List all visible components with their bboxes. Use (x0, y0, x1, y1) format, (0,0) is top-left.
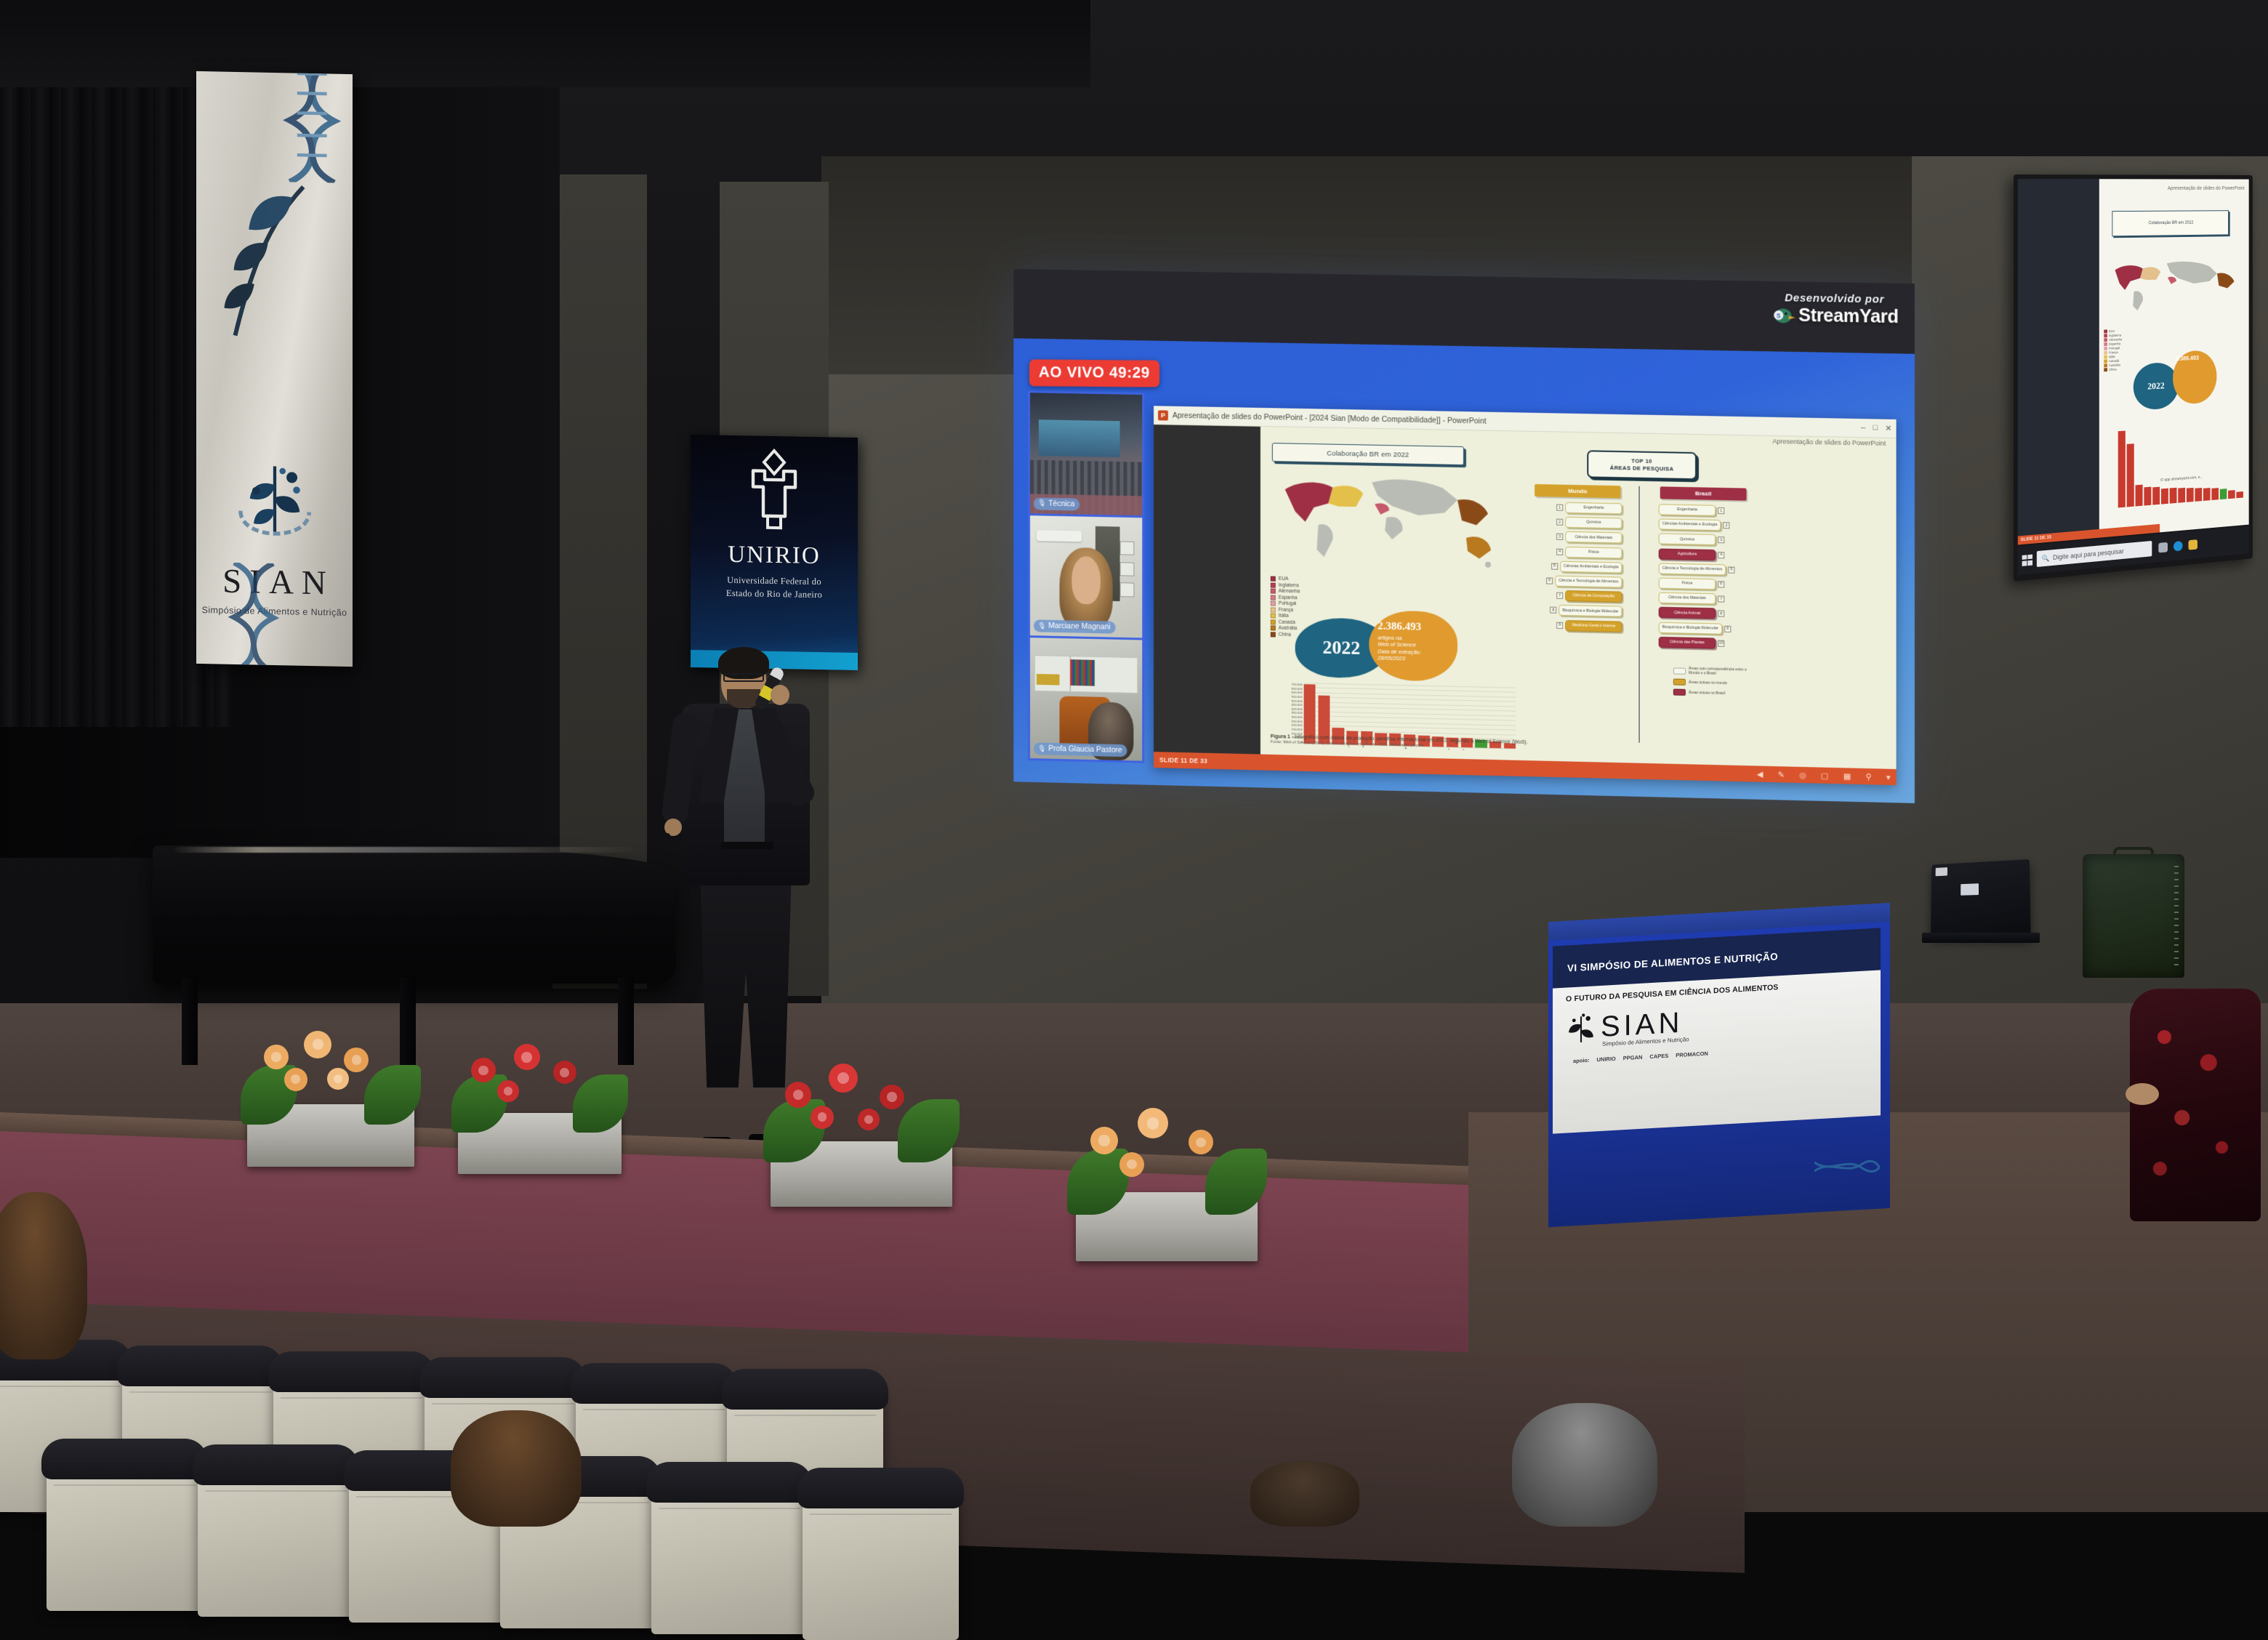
table-banner-white-band: O FUTURO DA PESQUISA EM CIÊNCIA DOS ALIM… (1553, 970, 1881, 1133)
legend-label: Canadá (2109, 358, 2119, 362)
x-tick-label: Brasil (1475, 747, 1487, 760)
flowchart-legend-swatch (1673, 667, 1686, 674)
legend-label: Itália (1279, 614, 1289, 619)
flowchart-item-rank: 3 (1556, 534, 1563, 540)
search-placeholder: Digite aqui para pesquisar (2053, 547, 2124, 561)
task-view-icon[interactable] (2158, 542, 2168, 553)
audience-member (451, 1410, 582, 1527)
monitor-slide-counter: SLIDE 11 DE 33 (2021, 536, 2051, 543)
y-tick-label: 300.000 (1292, 715, 1303, 719)
flowchart-item: Engenharia1 (1659, 504, 1725, 516)
pen-tools-icon[interactable]: ✎ (1778, 770, 1785, 779)
flowchart-title: TOP 10 ÁREAS DE PESQUISA (1587, 450, 1697, 480)
auditorium-seat[interactable] (803, 1473, 959, 1640)
streamyard-frame: Desenvolvido por S StreamYard AO VIVO 49… (1013, 269, 1915, 803)
legend-swatch (1271, 576, 1276, 582)
legend-label: China (1279, 632, 1291, 637)
flowchart-item: Ciências Ambientais e Ecologia2 (1659, 519, 1730, 531)
flowchart-item-label: Ciência das Plantas (1659, 637, 1716, 649)
flowchart-item-label: Bioquímica e Biologia Molecular (1659, 622, 1722, 634)
unirio-banner-subtitle: Universidade Federal do Estado do Rio de… (726, 574, 822, 602)
participant-name-chip: 🎙 Marciane Magnani (1034, 620, 1115, 634)
svg-text:S: S (1777, 311, 1781, 318)
flowchart-item-label: Bioquímica e Biologia Molecular (1559, 605, 1622, 617)
monitor-bar-chart (2118, 422, 2243, 508)
powerpoint-black-sidebar (1154, 425, 1260, 770)
flowchart-legend: Áreas com correspondência entre o Mundo … (1673, 666, 1754, 697)
legend-label: China (2109, 367, 2117, 371)
flowchart-item: 6Ciência e Tecnologia de Alimentos (1546, 575, 1622, 587)
flowchart-brazil-items: Engenharia1Ciências Ambientais e Ecologi… (1659, 504, 1750, 649)
flowchart-item: Ciência dos Materiais7 (1659, 592, 1725, 605)
monitor-panel: Apresentação de slides do PowerPoint Col… (2018, 179, 2249, 544)
participant-tile[interactable]: 🎙 Marciane Magnani (1030, 515, 1142, 638)
participant-rail: 🎙 Técnica 🎙 Marciane Magnani (1028, 390, 1144, 763)
monitor-year-blob: 2022 (2134, 362, 2179, 410)
streamyard-duck-icon: S (1771, 306, 1795, 326)
participant-tile[interactable]: 🎙 Técnica (1030, 393, 1142, 515)
flowchart-item-rank: 5 (1728, 566, 1734, 573)
table-banner-headline: VI SIMPÓSIO DE ALIMENTOS E NUTRIÇÃO (1567, 951, 1778, 973)
legend-label: EUA (1279, 576, 1288, 582)
red-gerbera-planter (771, 1058, 952, 1207)
flowchart-item-rank: 10 (1718, 640, 1724, 646)
legend-swatch (2104, 359, 2107, 363)
flowchart-item-label: Engenharia (1659, 504, 1716, 516)
flowchart-item-label: Química (1659, 534, 1716, 546)
chart-bar (2228, 490, 2235, 499)
monitor-slide-area: Apresentação de slides do PowerPoint Col… (2099, 179, 2249, 537)
flowchart-world-items: 1Engenharia2Química3Ciência dos Materiai… (1532, 502, 1622, 632)
auditorium-seat[interactable] (651, 1467, 808, 1634)
legend-entry: Alemanha (2104, 337, 2122, 342)
flowchart-legend-swatch (1673, 689, 1686, 696)
chart-bar (2118, 431, 2126, 508)
flowchart-item-rank: 3 (1718, 536, 1724, 543)
legend-swatch (1271, 625, 1276, 630)
article-count: 2.386.493 (1378, 621, 1450, 635)
flowchart-item-rank: 8 (1550, 607, 1556, 614)
statistic-blob: 2.386.493 artigos na Web of Science Data… (1369, 610, 1457, 682)
x-tick-label: Irã (1504, 748, 1516, 760)
legend-label: Portugal (1279, 601, 1296, 606)
search-icon: 🔍 (2042, 554, 2050, 563)
flowchart-item-label: Ciência dos Materiais (1565, 531, 1622, 544)
y-tick-label: 650.000 (1292, 686, 1303, 690)
legend-swatch (1271, 607, 1276, 612)
flowchart-item-label: Engenharia (1565, 502, 1622, 515)
legend-entry: Itália (1271, 613, 1300, 619)
all-slides-icon[interactable]: ▦ (1843, 771, 1851, 781)
legend-label: França (2109, 350, 2118, 354)
flowchart-legend-swatch (1673, 678, 1686, 685)
legend-swatch (2104, 342, 2107, 346)
flowchart-item-label: Ciência da Computação (1565, 590, 1622, 603)
monitor-country-legend: EUAInglaterraAlemanhaEspanhaPortugalFran… (2104, 329, 2122, 371)
streamyard-developed-by-label: Desenvolvido por (1771, 292, 1899, 306)
legend-entry: Inglaterra (1271, 582, 1300, 588)
asset-tag-sticker (1936, 867, 1947, 876)
laser-pointer-icon[interactable]: ◎ (1799, 770, 1806, 779)
sponsor-logo: CAPES (1649, 1053, 1668, 1060)
y-tick-label: 250.000 (1292, 719, 1303, 723)
auditorium-seat[interactable] (198, 1450, 354, 1617)
flowchart-item: Química3 (1659, 534, 1725, 546)
flowchart-item: Ciência e Tecnologia de Alimentos5 (1659, 563, 1735, 575)
presenter-laptop[interactable] (1919, 861, 2043, 956)
legend-label: Alemanha (1279, 589, 1300, 595)
y-tick-label: 550.000 (1292, 695, 1303, 699)
flowchart-column-brazil: Brasil (1660, 486, 1747, 500)
flowchart-item-rank: 6 (1718, 581, 1724, 587)
grand-piano (153, 825, 705, 1065)
legend-swatch (2104, 368, 2107, 371)
powerpoint-window-title: Apresentação de slides do PowerPoint - [… (1173, 411, 1487, 425)
flowchart-item-label: Física (1565, 546, 1622, 558)
chart-bar (2161, 488, 2168, 504)
legend-swatch (1271, 589, 1276, 594)
flowchart-item-label: Ciências Ambientais e Ecologia (1560, 561, 1622, 574)
streamyard-branding: Desenvolvido por S StreamYard (1771, 292, 1899, 328)
flowchart-item: Agricultura4 (1659, 548, 1725, 560)
legend-label: EUA (2109, 329, 2115, 333)
mic-icon: 🎙 (1038, 499, 1046, 507)
flowchart-legend-label: Áreas únicas no mundo (1689, 680, 1727, 685)
unirio-banner-word: UNIRIO (728, 542, 820, 570)
y-tick-label: 500.000 (1292, 699, 1303, 702)
legend-entry: Canadá (1271, 619, 1300, 625)
legend-entry: França (1271, 607, 1300, 613)
legend-swatch (2104, 347, 2107, 350)
flowchart-item-rank: 7 (1718, 596, 1724, 603)
legend-swatch (2104, 355, 2107, 358)
flowchart-item: Ciência Animal8 (1659, 607, 1725, 619)
table-banner-sian-word: SIAN (1601, 1009, 1683, 1041)
flowchart-item-label: Ciência e Tecnologia de Alimentos (1555, 576, 1622, 588)
slide-canvas: Apresentação de slides do PowerPoint Col… (1260, 427, 1897, 760)
flowchart-item: 5Ciências Ambientais e Ecologia (1551, 560, 1622, 573)
legend-entry: Espanha (1271, 595, 1300, 600)
sian-plant-crest-icon (228, 450, 322, 560)
monitor-slide-header: Apresentação de slides do PowerPoint (2106, 186, 2245, 191)
head-table-with-banner: VI SIMPÓSIO DE ALIMENTOS E NUTRIÇÃO O FU… (1548, 912, 1890, 1218)
audience-right-side (2064, 945, 2268, 1294)
legend-entry: China (1271, 632, 1300, 638)
monitor-collaboration-box: Colaboração BR em 2022 (2112, 211, 2229, 236)
chart-bar (2195, 488, 2202, 502)
close-icon[interactable]: ✕ (1885, 424, 1891, 433)
legend-entry: China (2104, 367, 2122, 371)
mic-icon: 🎙 (1038, 622, 1046, 630)
flowchart-item-rank: 2 (1723, 522, 1729, 528)
flowchart-legend-label: Áreas únicas no Brasil (1689, 690, 1725, 695)
legend-label: Espanha (2109, 342, 2120, 346)
legend-swatch (1271, 632, 1276, 637)
previous-slide-icon[interactable]: ◀ (1757, 769, 1764, 779)
flowchart-item-rank: 7 (1556, 592, 1563, 599)
legend-label: França (1279, 607, 1293, 612)
restore-icon[interactable]: □ (1873, 423, 1878, 433)
participant-tile[interactable]: 🎙 Profa Glaucia Pastore (1030, 638, 1142, 760)
flowchart-spine (1639, 486, 1640, 743)
legend-swatch (1271, 600, 1276, 606)
flowchart-item-rank: 2 (1556, 519, 1563, 526)
research-areas-flowchart: TOP 10 ÁREAS DE PESQUISA Mundo Brasil 1E… (1530, 445, 1749, 748)
asset-tag-sticker (1961, 883, 1979, 896)
y-tick-label: 150.000 (1292, 728, 1303, 731)
flowchart-legend-entry: Áreas com correspondência entre o Mundo … (1673, 666, 1754, 676)
flowchart-item: 9Medicina Geral e Interna (1556, 619, 1622, 632)
chart-bar (2135, 484, 2142, 506)
auditorium-seat[interactable] (47, 1444, 203, 1611)
powerpoint-icon: P (1158, 410, 1168, 420)
chart-bar (2211, 488, 2219, 500)
flowchart-item-label: Química (1565, 517, 1622, 529)
chart-bar (2152, 487, 2160, 505)
legend-swatch (1271, 613, 1276, 618)
minimize-icon[interactable]: – (1861, 423, 1865, 433)
legend-label: Canadá (1279, 619, 1295, 624)
flowchart-item-rank: 8 (1718, 611, 1724, 617)
edge-browser-icon[interactable] (2173, 541, 2183, 552)
live-indicator-badge: AO VIVO 49:29 (1029, 359, 1159, 387)
sian-plant-icon (1566, 1010, 1596, 1045)
file-explorer-icon[interactable] (2189, 539, 2197, 550)
presentation-clicker-icon (659, 833, 670, 852)
y-tick-label: 350.000 (1292, 711, 1303, 715)
sian-banner: SIAN Simpósio de Alimentos e Nutrição (196, 71, 353, 667)
flowchart-item-rank: 9 (1724, 625, 1731, 632)
windows-start-icon[interactable] (2022, 554, 2032, 566)
flowchart-item: 3Ciência dos Materiais (1556, 531, 1622, 544)
x-tick-label: Rússia (1489, 748, 1501, 760)
legend-label: Inglaterra (2109, 333, 2121, 337)
legend-label: Portugal (2109, 346, 2120, 350)
flowchart-item: Física6 (1659, 578, 1725, 590)
flowchart-item: 1Engenharia (1556, 502, 1622, 515)
legend-swatch (1271, 619, 1276, 624)
auditorium-scene: SIAN Simpósio de Alimentos e Nutrição UN… (0, 0, 2268, 1512)
y-tick-label: 450.000 (1292, 703, 1303, 707)
legend-entry: EUA (1271, 576, 1300, 582)
legend-label: Itália (2109, 355, 2115, 358)
shared-powerpoint-window: P Apresentação de slides do PowerPoint -… (1154, 406, 1896, 785)
mic-icon: 🎙 (1038, 744, 1046, 752)
dna-helix-icon (204, 562, 313, 667)
legend-swatch (1271, 595, 1276, 600)
chart-bar (2203, 488, 2211, 501)
flowchart-item-label: Ciência Animal (1659, 607, 1716, 619)
legend-swatch (2104, 329, 2107, 333)
legend-entry: Austrália (1271, 625, 1300, 631)
flowchart-item: Ciência das Plantas10 (1659, 637, 1725, 649)
legend-label: Espanha (1279, 595, 1298, 600)
sponsor-logo: PPGAN (1623, 1054, 1643, 1061)
participant-name-chip: 🎙 Técnica (1034, 497, 1079, 510)
stage-curtain-top (0, 0, 1090, 87)
slide-counter: SLIDE 11 DE 33 (1159, 756, 1207, 765)
sponsor-logo: PROMACON (1676, 1050, 1708, 1058)
orange-gerbera-planter (1076, 1105, 1258, 1261)
flowchart-legend-label: Áreas com correspondência entre o Mundo … (1689, 667, 1754, 677)
legend-entry: Alemanha (1271, 589, 1300, 595)
y-tick-label: 700.000 (1292, 683, 1303, 686)
leaf-sprig-icon (208, 180, 317, 350)
flowchart-item-rank: 6 (1546, 577, 1553, 584)
sponsor-support-label: apoio: (1573, 1057, 1590, 1064)
dna-helix-icon (277, 71, 353, 183)
subtitles-icon[interactable]: ▢ (1821, 771, 1829, 780)
flowchart-item-rank: 5 (1551, 563, 1558, 569)
legend-swatch (2104, 363, 2107, 367)
unirio-banner: UNIRIO Universidade Federal do Estado do… (691, 435, 858, 670)
flowchart-legend-entry: Áreas únicas no Brasil (1673, 689, 1754, 698)
legend-entry: EUA (2104, 329, 2122, 333)
chart-bar (2187, 488, 2194, 502)
collaboration-box: Colaboração BR em 2022 (1272, 443, 1464, 465)
red-gerbera-planter (458, 1036, 622, 1174)
dna-helix-icon (1814, 1158, 1880, 1177)
participant-name-chip: 🎙 Profa Glaucia Pastore (1034, 742, 1127, 757)
legend-label: Inglaterra (1279, 582, 1299, 588)
y-tick-label: 200.000 (1292, 723, 1303, 727)
unirio-trident-icon (743, 446, 805, 540)
streamyard-wordmark: StreamYard (1798, 305, 1898, 328)
flowchart-item: 2Química (1556, 517, 1622, 529)
legend-swatch (2104, 338, 2107, 342)
legend-entry: Inglaterra (2104, 333, 2122, 337)
legend-entry: Portugal (1271, 600, 1300, 606)
legend-swatch (2104, 334, 2107, 337)
more-options-icon[interactable]: ▾ (1886, 772, 1891, 781)
eyeglasses-icon (723, 673, 764, 682)
flowchart-item-rank: 1 (1556, 505, 1563, 511)
chart-bar (2170, 488, 2177, 504)
flowchart-item-label: Ciência dos Materiais (1659, 592, 1716, 605)
legend-label: Alemanha (2109, 337, 2122, 342)
flowchart-item-label: Ciências Ambientais e Ecologia (1659, 519, 1721, 531)
flowchart-column-world: Mundo (1535, 484, 1620, 498)
world-map-graphic (1276, 467, 1516, 581)
audience-member (0, 1192, 87, 1359)
y-tick-label: 400.000 (1292, 707, 1303, 711)
flowchart-item: 8Bioquímica e Biologia Molecular (1550, 605, 1622, 617)
flowchart-item-label: Medicina Geral e Interna (1565, 620, 1622, 632)
flowchart-item-label: Ciência e Tecnologia de Alimentos (1659, 563, 1726, 575)
flowchart-item-label: Física (1659, 578, 1716, 590)
monitor-world-map (2109, 245, 2240, 326)
flowchart-item-label: Agricultura (1659, 548, 1716, 560)
audience-member (1250, 1461, 1359, 1527)
flowchart-item-rank: 4 (1556, 548, 1563, 555)
zoom-icon[interactable]: ⚲ (1865, 772, 1871, 781)
flowchart-item: Bioquímica e Biologia Molecular9 (1659, 622, 1731, 634)
flowchart-item-rank: 9 (1556, 622, 1563, 628)
projection-screen: Desenvolvido por S StreamYard AO VIVO 49… (1013, 269, 1915, 803)
flowchart-legend-entry: Áreas únicas no mundo (1673, 678, 1754, 686)
flowchart-item-rank: 4 (1718, 552, 1724, 558)
confidence-monitor: Apresentação de slides do PowerPoint Col… (2014, 174, 2253, 582)
chart-bar (2144, 487, 2151, 505)
chart-bar (2127, 443, 2134, 507)
y-tick-label: 600.000 (1292, 691, 1303, 694)
audience-member (1512, 1403, 1657, 1527)
chart-bar (2178, 488, 2185, 503)
flowchart-item: 4Física (1556, 546, 1622, 558)
legend-swatch (2104, 350, 2107, 354)
flowchart-item-rank: 1 (1718, 507, 1724, 514)
orange-gerbera-planter (247, 1025, 414, 1167)
chart-bar (2220, 489, 2227, 499)
taskbar-search-input[interactable]: 🔍 Digite aqui para pesquisar (2037, 541, 2152, 567)
legend-label: Austrália (1279, 626, 1298, 632)
legend-label: Austrália (2109, 363, 2120, 367)
sponsor-logo: UNIRIO (1597, 1056, 1616, 1063)
monitor-stat-blob: 2.386.493 (2173, 350, 2217, 404)
flowchart-item: 7Ciência da Computação (1556, 590, 1622, 603)
country-legend: EUAInglaterraAlemanhaEspanhaPortugalFran… (1271, 576, 1300, 638)
chart-bar (2236, 491, 2243, 498)
legend-swatch (1271, 582, 1276, 587)
